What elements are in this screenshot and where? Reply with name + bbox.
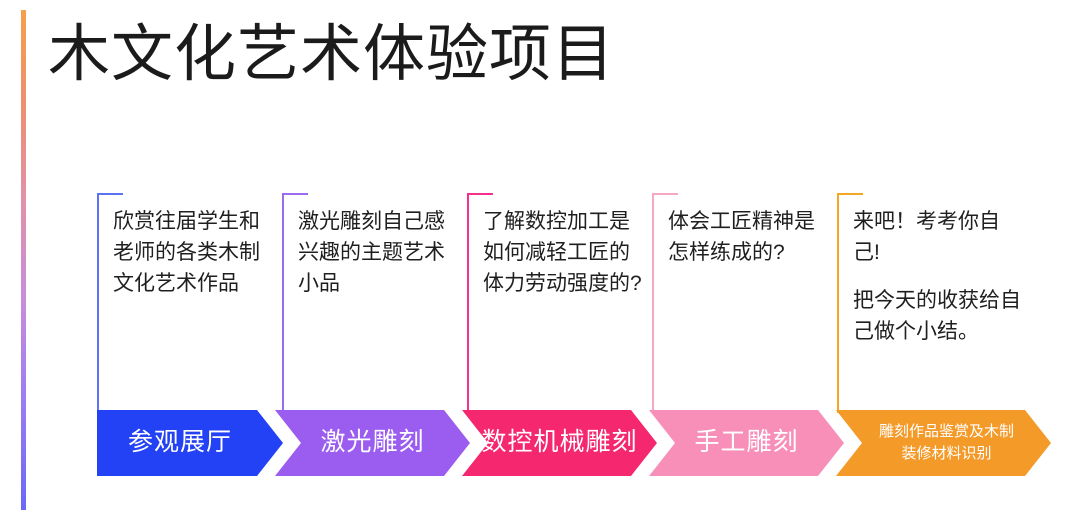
description-column-2: 激光雕刻自己感兴趣的主题艺术小品 — [282, 193, 467, 413]
column-paragraph: 激光雕刻自己感兴趣的主题艺术小品 — [298, 207, 457, 300]
chevron-step-3[interactable]: 数控机械雕刻 — [462, 410, 657, 476]
chevron-step-4[interactable]: 手工雕刻 — [649, 410, 844, 476]
bracket-vertical-line-4 — [652, 193, 654, 413]
description-column-5: 来吧！考考你自己! 把今天的收获给自己做个小结。 — [837, 193, 1032, 413]
column-paragraph: 了解数控加工是如何减轻工匠的体力劳动强度的? — [483, 207, 642, 300]
bracket-horizontal-tick-1 — [97, 193, 123, 195]
chevron-step-1[interactable]: 参观展厅 — [97, 410, 283, 476]
description-column-4: 体会工匠精神是怎样练成的? — [652, 193, 837, 413]
bracket-vertical-line-5 — [837, 193, 839, 413]
bracket-horizontal-tick-2 — [282, 193, 308, 195]
column-paragraph: 体会工匠精神是怎样练成的? — [668, 207, 827, 269]
bracket-vertical-line-1 — [97, 193, 99, 413]
bracket-horizontal-tick-4 — [652, 193, 678, 195]
chevron-step-label: 参观展厅 — [128, 427, 232, 458]
page-title: 木文化艺术体验项目 — [48, 20, 615, 89]
bracket-horizontal-tick-5 — [837, 193, 863, 195]
column-paragraph: 把今天的收获给自己做个小结。 — [853, 286, 1022, 348]
chevron-step-label: 数控机械雕刻 — [481, 427, 637, 458]
slide-canvas: 木文化艺术体验项目 欣赏往届学生和老师的各类木制文化艺术作品 激光雕刻自己感兴趣… — [0, 0, 1080, 519]
left-gradient-accent-bar — [21, 10, 26, 510]
description-column-3: 了解数控加工是如何减轻工匠的体力劳动强度的? — [467, 193, 652, 413]
chevron-step-5[interactable]: 雕刻作品鉴赏及木制 装修材料识别 — [836, 410, 1051, 476]
description-column-1: 欣赏往届学生和老师的各类木制文化艺术作品 — [97, 193, 282, 413]
bracket-vertical-line-2 — [282, 193, 284, 413]
column-paragraph: 欣赏往届学生和老师的各类木制文化艺术作品 — [113, 207, 272, 300]
column-paragraph: 来吧！考考你自己! — [853, 207, 1022, 269]
chevron-step-label: 激光雕刻 — [320, 427, 424, 458]
chevron-step-2[interactable]: 激光雕刻 — [275, 410, 470, 476]
bracket-vertical-line-3 — [467, 193, 469, 413]
description-columns: 欣赏往届学生和老师的各类木制文化艺术作品 激光雕刻自己感兴趣的主题艺术小品 了解… — [97, 193, 1050, 413]
chevron-step-label: 手工雕刻 — [694, 427, 798, 458]
chevron-step-label: 雕刻作品鉴赏及木制 装修材料识别 — [879, 421, 1014, 465]
bracket-horizontal-tick-3 — [467, 193, 493, 195]
process-chevron-ribbon: 参观展厅 激光雕刻 数控机械雕刻 手工雕刻 雕刻作品鉴赏及木制 装修材料识别 — [97, 410, 1057, 476]
